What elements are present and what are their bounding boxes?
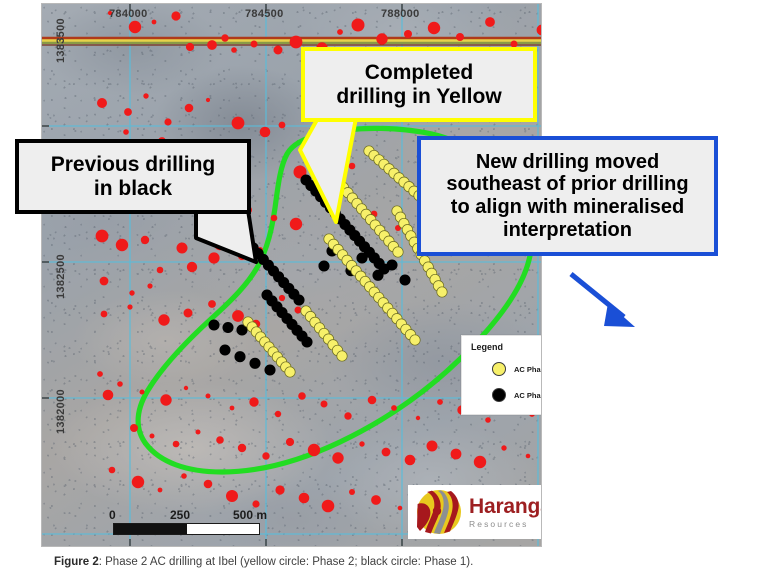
haranga-emblem-icon [416, 489, 462, 535]
y-axis-label-1383500: 1383500 [55, 18, 67, 63]
y-axis-label-1382000: 1382000 [55, 389, 67, 434]
logo-company-subtitle: Resources [469, 520, 542, 529]
figure-caption: Figure 2: Phase 2 AC drilling at Ibel (y… [54, 556, 754, 568]
legend-item-ac-phase-2: AC Phase 2 [492, 362, 542, 376]
legend-label-phase1: AC Phase 1 [514, 391, 542, 400]
callout-black-line2: in black [94, 177, 172, 200]
x-axis-label-784500: 784500 [245, 8, 284, 20]
callout-blue-line4: interpretation [503, 219, 632, 241]
legend-label-phase2: AC Phase 2 [514, 365, 542, 374]
scale-bar-graphic [113, 523, 260, 535]
logo-wordmark: Haranga Resources [469, 496, 542, 529]
callout-yellow-line1: Completed [365, 61, 474, 84]
callout-blue-line3: to align with mineralised [451, 196, 684, 218]
legend-item-ac-phase-1: AC Phase 1 [492, 388, 542, 402]
x-axis-label-788000: 788000 [381, 8, 420, 20]
callout-blue-body: New drilling moved southeast of prior dr… [446, 151, 688, 241]
y-axis-label-1382500: 1382500 [55, 254, 67, 299]
southeast-arrow-icon [571, 274, 635, 327]
scale-bar-labels: 0 250 500 m [113, 508, 258, 523]
callout-previous-drilling: Previous drilling in black [15, 139, 251, 214]
legend-title: Legend [471, 342, 503, 352]
callout-blue-line1: New drilling moved [476, 151, 659, 173]
callout-black-body: Previous drilling in black [51, 153, 216, 200]
figure-caption-text: : Phase 2 AC drilling at Ibel (yellow ci… [99, 556, 474, 568]
legend-swatch-phase2 [492, 362, 506, 376]
scale-segment-dark [114, 524, 187, 534]
figure-caption-label: Figure 2 [54, 556, 99, 568]
callout-blue-line2: southeast of prior drilling [446, 173, 688, 195]
map-legend: Legend AC Phase 2 AC Phase 1 [461, 335, 542, 415]
scale-segment-light [187, 524, 260, 534]
logo-company-name: Haranga [469, 496, 542, 517]
x-axis-label-784000: 784000 [109, 8, 148, 20]
callout-completed-drilling: Completed drilling in Yellow [301, 47, 537, 122]
scale-tick-0: 0 [109, 508, 116, 522]
callout-new-drilling-note: New drilling moved southeast of prior dr… [417, 136, 718, 256]
callout-yellow-body: Completed drilling in Yellow [336, 61, 501, 108]
callout-yellow-line2: drilling in Yellow [336, 85, 501, 108]
callout-black-line1: Previous drilling [51, 153, 216, 176]
figure-container: Legend AC Phase 2 AC Phase 1 Haranga [0, 0, 777, 577]
scale-tick-250: 250 [170, 508, 190, 522]
scale-tick-500: 500 m [233, 508, 267, 522]
company-logo: Haranga Resources [408, 485, 542, 539]
scale-bar: 0 250 500 m [113, 508, 260, 535]
legend-swatch-phase1 [492, 388, 506, 402]
